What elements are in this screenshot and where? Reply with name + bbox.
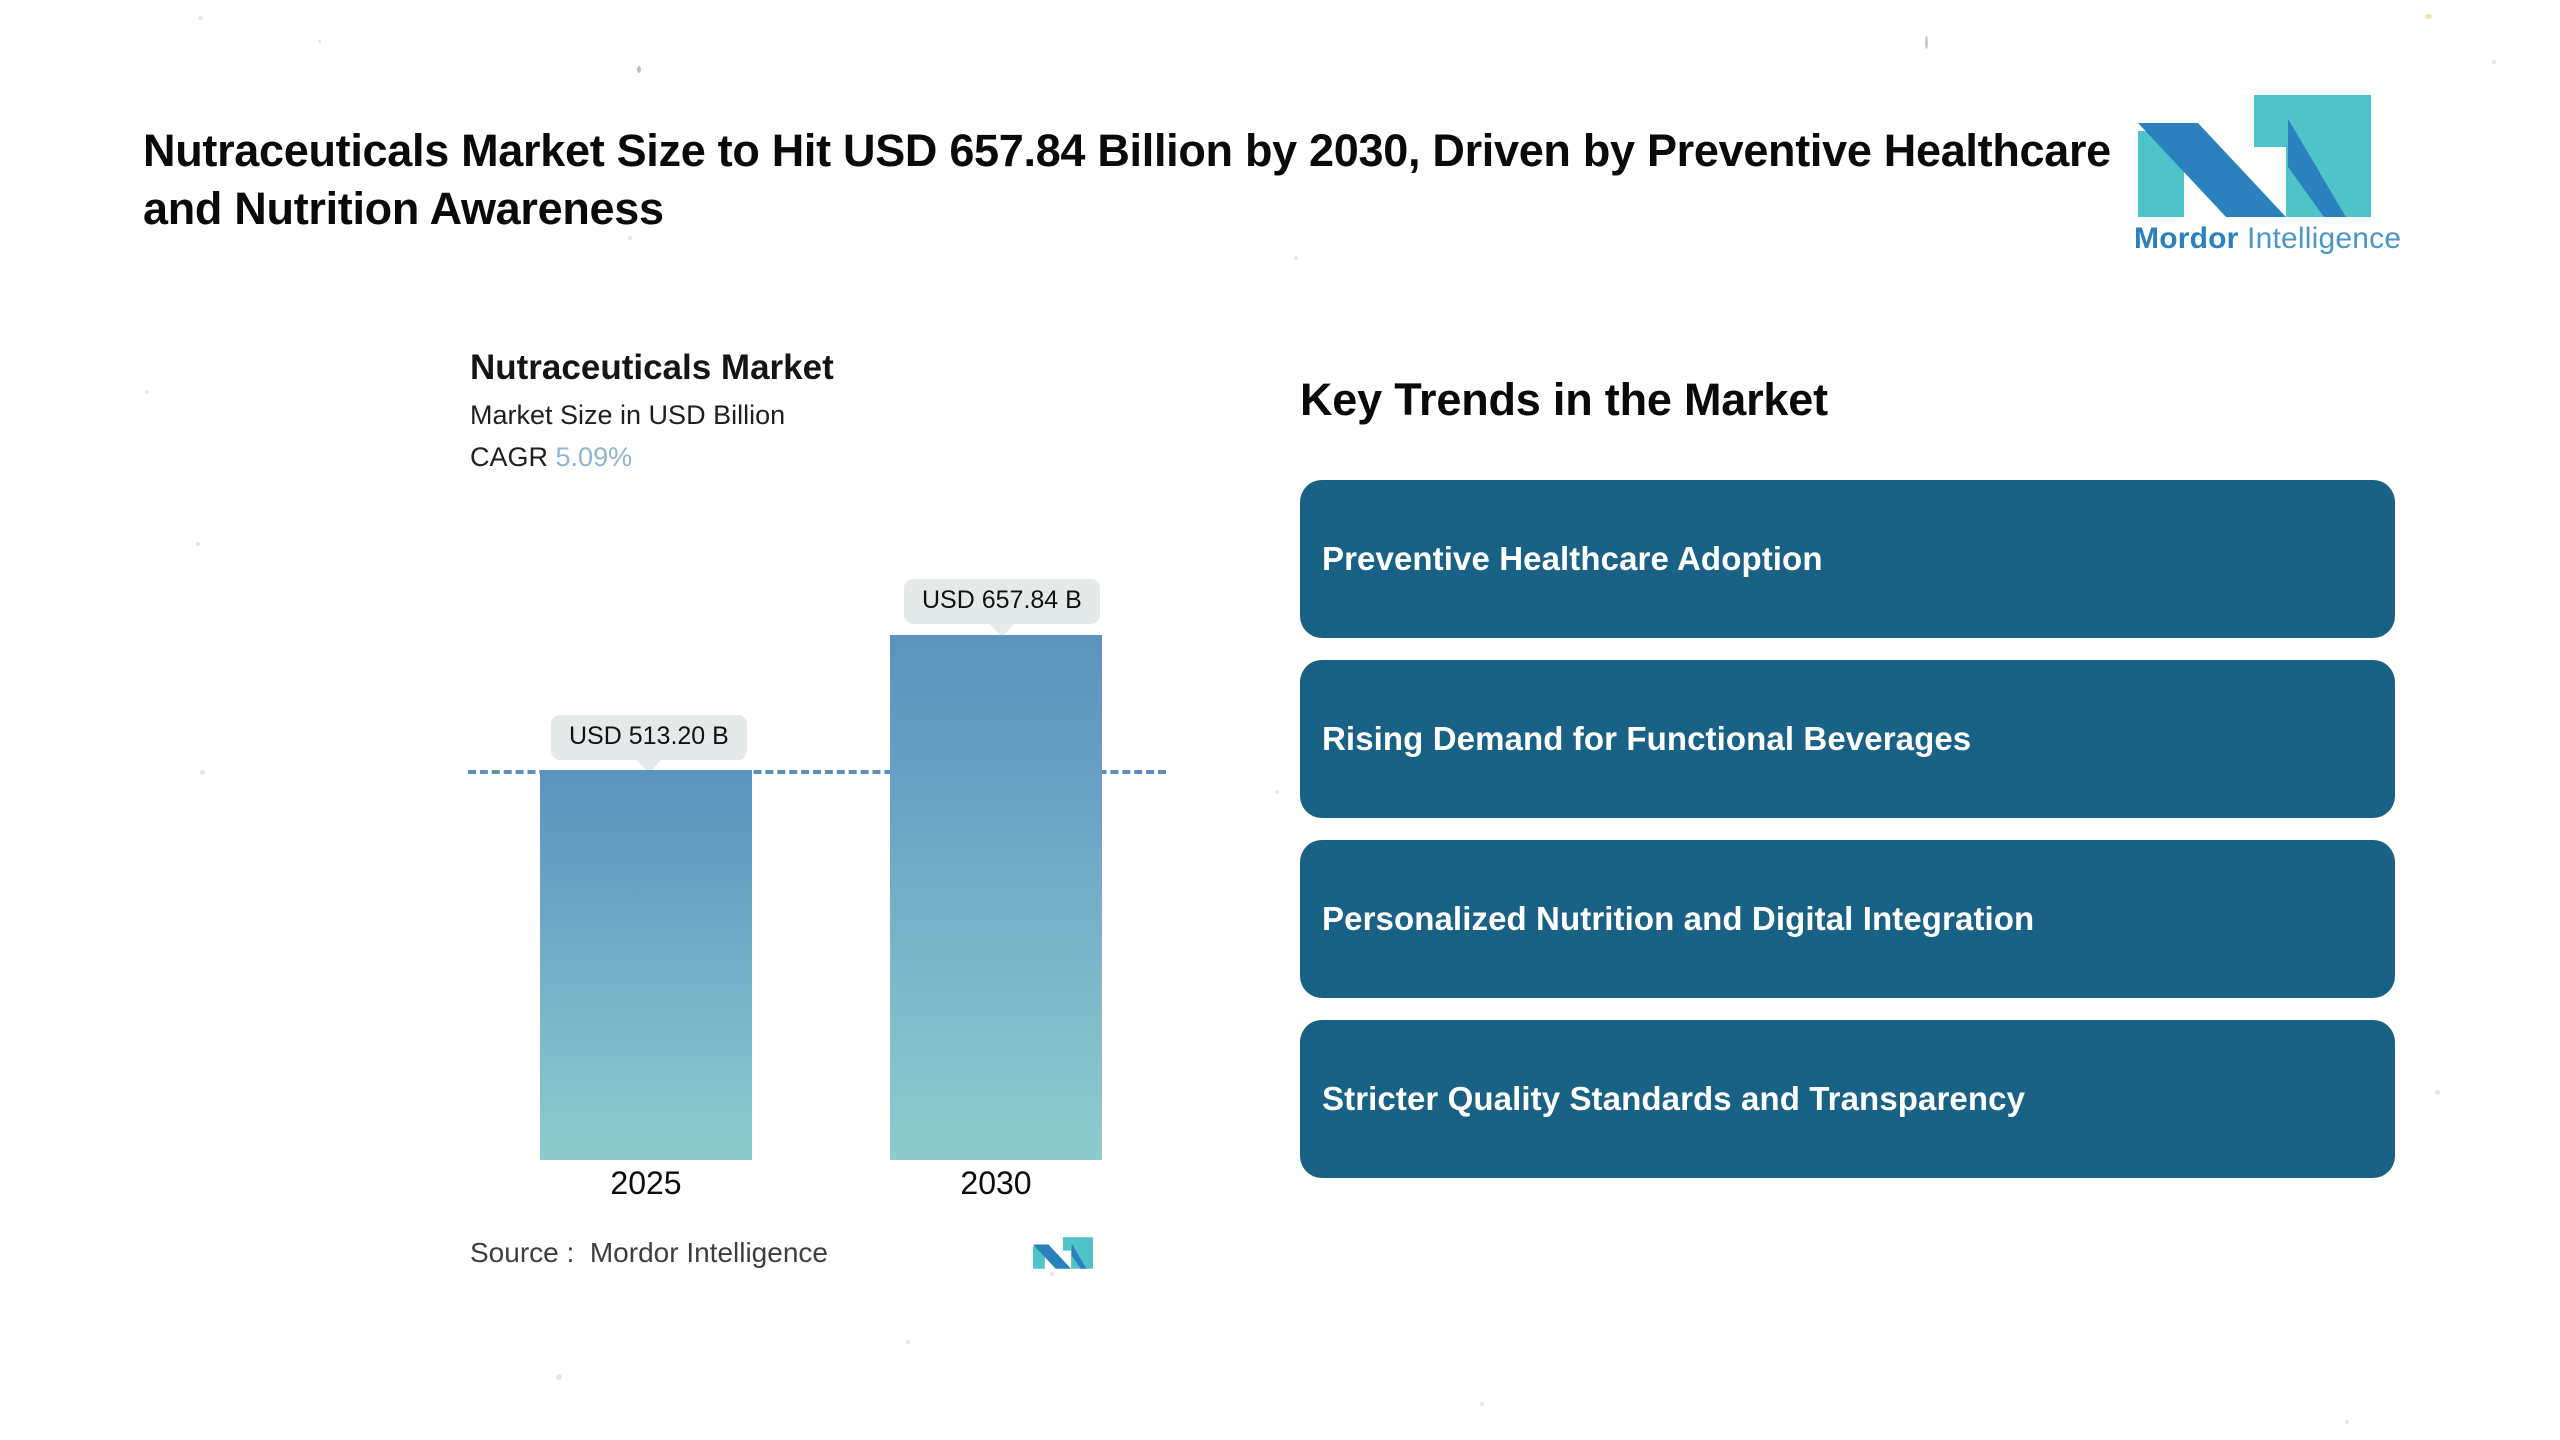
trend-card-label: Rising Demand for Functional Beverages (1322, 720, 1971, 758)
brand-name-bold: Mordor (2134, 222, 2239, 255)
x-tick-2030: 2030 (890, 1165, 1102, 1202)
speck (1480, 1402, 1484, 1406)
trend-card-label: Preventive Healthcare Adoption (1322, 540, 1823, 578)
trend-card[interactable]: Personalized Nutrition and Digital Integ… (1300, 840, 2395, 998)
trend-card-label: Stricter Quality Standards and Transpare… (1322, 1080, 2025, 1118)
speck (1925, 36, 1928, 49)
source-prefix: Source : (470, 1237, 574, 1268)
speck (2435, 1090, 2440, 1095)
cagr-label: CAGR (470, 442, 548, 472)
chart-title: Nutraceuticals Market (470, 348, 1230, 388)
trend-card[interactable]: Preventive Healthcare Adoption (1300, 480, 2395, 638)
speck (906, 1340, 910, 1344)
trend-card-label: Personalized Nutrition and Digital Integ… (1322, 900, 2034, 938)
speck (556, 1374, 562, 1380)
page-title: Nutraceuticals Market Size to Hit USD 65… (143, 122, 2133, 237)
key-trends-panel: Key Trends in the Market Preventive Heal… (1300, 374, 2395, 1178)
mordor-intelligence-logo-icon (2138, 95, 2371, 217)
brand-name-light: Intelligence (2239, 222, 2402, 255)
speck (2492, 60, 2496, 64)
x-tick-2025: 2025 (540, 1165, 752, 1202)
brand-wordmark: Mordor Intelligence (2134, 222, 2374, 256)
bar-chart-plot: USD 657.84 B USD 513.20 B 2025 2030 (430, 520, 1230, 1160)
key-trends-title: Key Trends in the Market (1300, 374, 2395, 426)
chart-subtitle: Market Size in USD Billion (470, 399, 1230, 431)
trend-card[interactable]: Rising Demand for Functional Beverages (1300, 660, 2395, 818)
speck (145, 390, 149, 394)
speck (2345, 1420, 2349, 1424)
speck (198, 16, 203, 20)
trend-card[interactable]: Stricter Quality Standards and Transpare… (1300, 1020, 2395, 1178)
bar-2025 (540, 770, 752, 1160)
chart-cagr: CAGR 5.09% (470, 441, 1230, 473)
speck (200, 770, 205, 775)
header: Nutraceuticals Market Size to Hit USD 65… (143, 122, 2143, 237)
source-row: Source : Mordor Intelligence (470, 1232, 1170, 1274)
bar-2030 (890, 635, 1102, 1160)
speck (318, 40, 321, 43)
speck (2425, 14, 2432, 19)
speck (196, 542, 200, 546)
bar-value-tooltip-2030: USD 657.84 B (904, 579, 1100, 624)
speck (637, 66, 641, 73)
source-name: Mordor Intelligence (590, 1237, 828, 1268)
cagr-value: 5.09% (556, 442, 633, 472)
source-label: Source : Mordor Intelligence (470, 1237, 828, 1269)
bar-value-tooltip-2025: USD 513.20 B (551, 715, 747, 760)
mordor-intelligence-mark-icon (1033, 1232, 1093, 1274)
chart-header: Nutraceuticals Market Market Size in USD… (470, 348, 1230, 473)
speck (1294, 256, 1298, 260)
speck (1275, 790, 1279, 794)
x-axis-labels: 2025 2030 (430, 1165, 1230, 1215)
brand-logo: Mordor Intelligence (2134, 95, 2374, 256)
